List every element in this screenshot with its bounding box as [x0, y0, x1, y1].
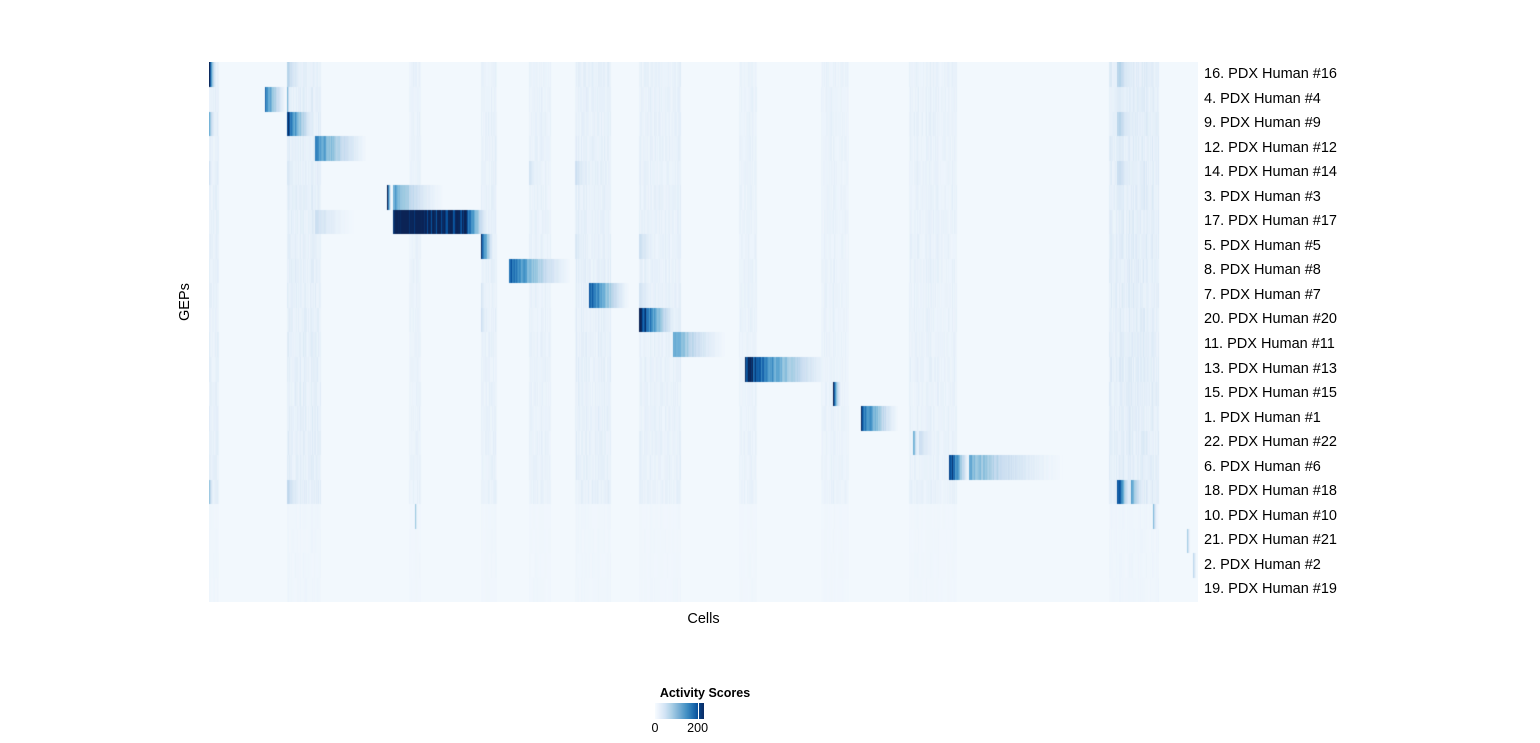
row-label: 4. PDX Human #4	[1204, 87, 1321, 112]
colorbar-legend: Activity Scores 0200	[600, 686, 810, 738]
row-label: 7. PDX Human #7	[1204, 283, 1321, 308]
row-label: 20. PDX Human #20	[1204, 307, 1337, 332]
colorbar-tick-label: 200	[687, 721, 708, 735]
row-label: 22. PDX Human #22	[1204, 430, 1337, 455]
row-label: 17. PDX Human #17	[1204, 209, 1337, 234]
row-label: 16. PDX Human #16	[1204, 62, 1337, 87]
colorbar-tick-label: 0	[652, 721, 659, 735]
row-label: 21. PDX Human #21	[1204, 528, 1337, 553]
row-label: 2. PDX Human #2	[1204, 553, 1321, 578]
y-axis-title: GEPs	[177, 293, 193, 321]
row-label: 1. PDX Human #1	[1204, 406, 1321, 431]
row-label: 12. PDX Human #12	[1204, 136, 1337, 161]
row-label: 9. PDX Human #9	[1204, 111, 1321, 136]
colorbar-bar-wrap: 0200	[655, 703, 755, 719]
row-label: 3. PDX Human #3	[1204, 185, 1321, 210]
row-label: 15. PDX Human #15	[1204, 381, 1337, 406]
row-label: 18. PDX Human #18	[1204, 479, 1337, 504]
heatmap-figure: GEPs Cells 16. PDX Human #164. PDX Human…	[0, 0, 1540, 743]
row-label: 19. PDX Human #19	[1204, 577, 1337, 602]
colorbar-gradient	[655, 703, 704, 719]
x-axis-title: Cells	[209, 611, 1198, 627]
row-label: 6. PDX Human #6	[1204, 455, 1321, 480]
colorbar-title: Activity Scores	[600, 686, 810, 700]
row-label: 13. PDX Human #13	[1204, 357, 1337, 382]
row-label-list: 16. PDX Human #164. PDX Human #49. PDX H…	[1204, 62, 1534, 602]
row-label: 10. PDX Human #10	[1204, 504, 1337, 529]
row-label: 8. PDX Human #8	[1204, 258, 1321, 283]
row-label: 11. PDX Human #11	[1204, 332, 1335, 357]
heatmap-plot-area[interactable]	[209, 62, 1198, 602]
row-label: 14. PDX Human #14	[1204, 160, 1337, 185]
colorbar-tick-mark	[698, 703, 700, 719]
row-label: 5. PDX Human #5	[1204, 234, 1321, 259]
heatmap-canvas[interactable]	[209, 62, 1198, 602]
